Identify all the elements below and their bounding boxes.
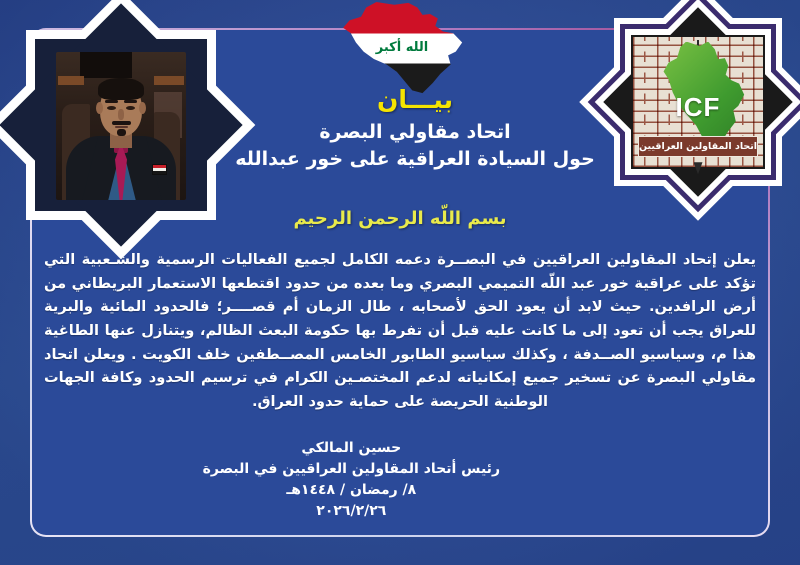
portrait-star-frame [26, 30, 216, 220]
iraq-flag-map-icon: الله أكبر [338, 2, 466, 94]
heading-block: بيـــان اتحاد مقاولي البصرة حول السيادة … [230, 86, 600, 173]
gregorian-date: ٢٠٢٦/٢/٢٦ [203, 501, 500, 522]
statement-paragraph: يعلن إتحاد المقاولين العراقيين في البصــ… [44, 248, 756, 413]
signature-block: حسين المالكي رئيس أتحاد المقاولين العراق… [203, 438, 500, 522]
statement-poster: الله أكبر ICF اتحاد المقاولين العراقيين … [0, 0, 800, 565]
statement-body: يعلن إتحاد المقاولين العراقيين في البصــ… [44, 248, 756, 413]
icf-initials: ICF [614, 92, 782, 123]
subtitle-topic: حول السيادة العراقية على خور عبدالله [230, 147, 600, 173]
signer-title: رئيس أتحاد المقاولين العراقيين في البصرة [203, 459, 500, 480]
icf-logo-icon: ICF اتحاد المقاولين العراقيين [614, 18, 782, 186]
takbir-text: الله أكبر [338, 41, 466, 54]
avatar [56, 52, 186, 200]
logo-band: اتحاد المقاولين العراقيين [638, 136, 759, 157]
logo-band-text: اتحاد المقاولين العراقيين [639, 141, 757, 152]
hijri-date: ٨/ رمضان / ١٤٤٨هـ [203, 480, 500, 501]
signer-name: حسين المالكي [203, 438, 500, 459]
iraqi-flag-lapel-pin-icon [152, 164, 167, 175]
subtitle-organization: اتحاد مقاولي البصرة [230, 120, 600, 146]
